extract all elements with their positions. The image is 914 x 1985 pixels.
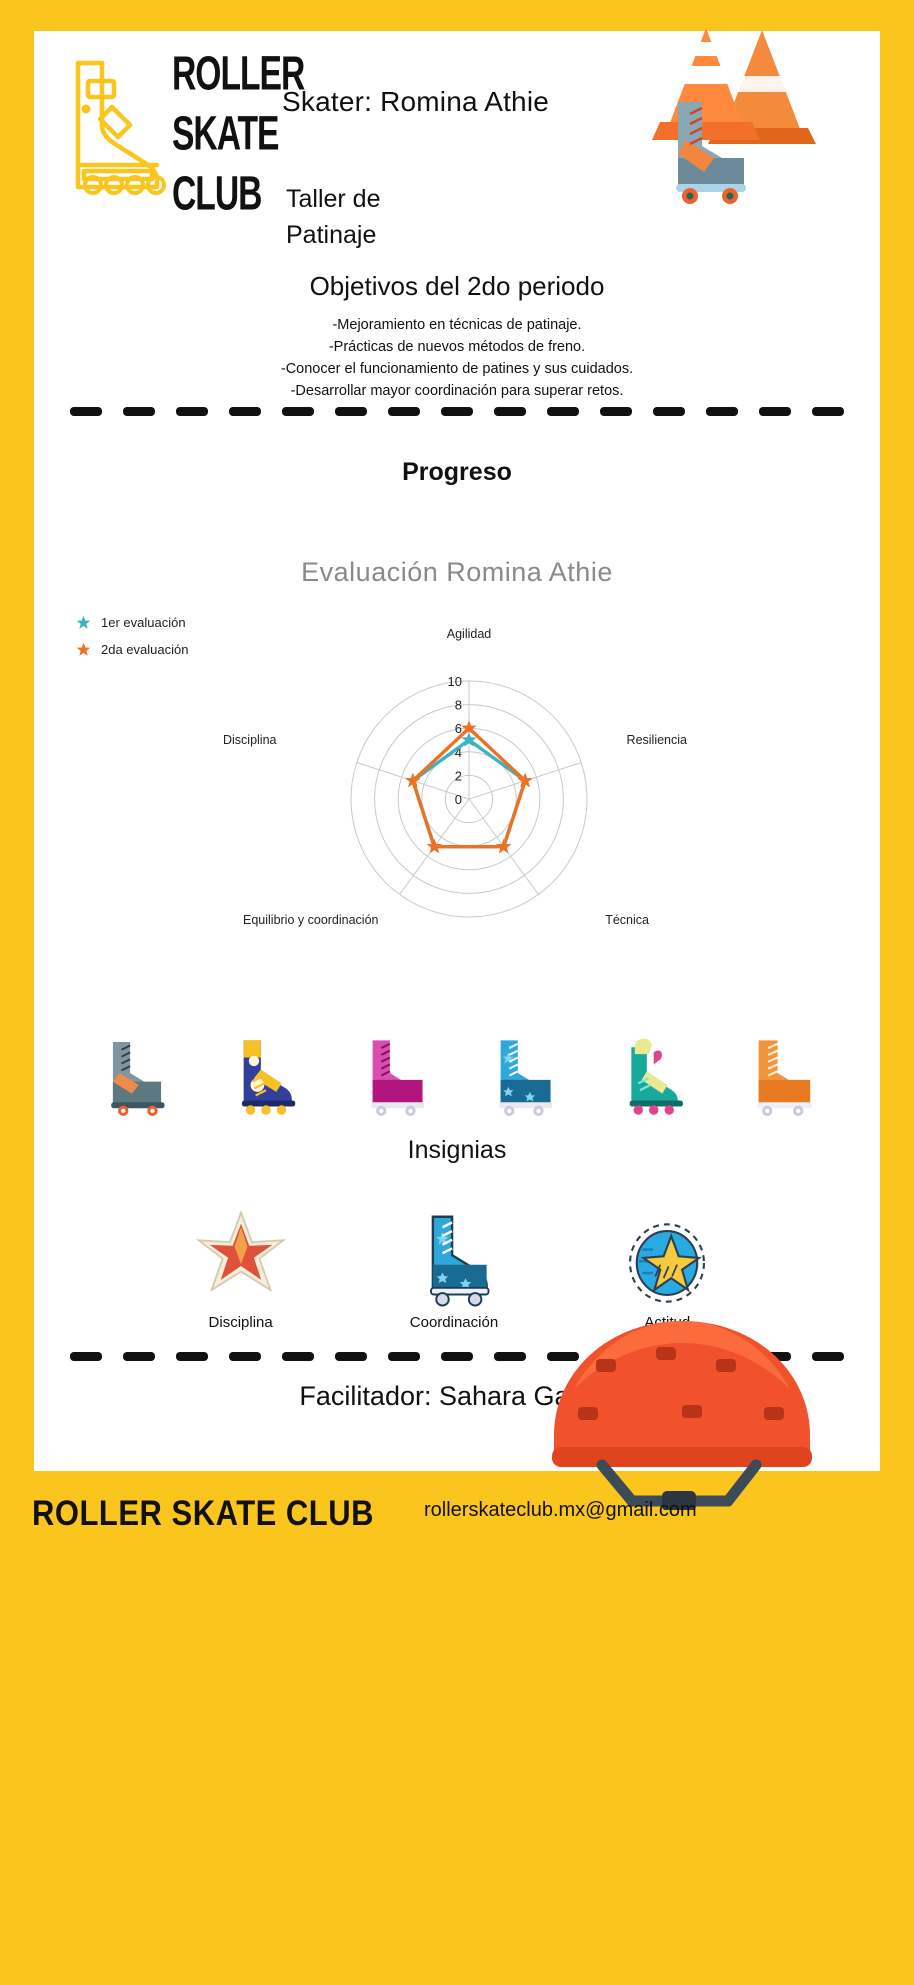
objective-item: -Desarrollar mayor coordinación para sup… [34,380,880,402]
roller-skate-gray-icon [94,1030,180,1116]
footer-brand: ROLLER SKATE CLUB [32,1493,374,1534]
badge-coordinacion: Coordinación [359,1212,549,1331]
badges-row: Disciplina [134,1196,774,1331]
badge-label: Disciplina [146,1314,336,1331]
axis-label-disciplina: Disciplina [223,733,277,747]
roller-skate-pink-icon [352,1030,438,1116]
star-icon [76,642,91,657]
roller-skate-icon [648,96,768,206]
workshop-line-2: Patinaje [286,217,586,253]
brand-line-1: ROLLER [172,53,294,93]
objectives-title: Objetivos del 2do periodo [34,271,880,302]
star-badge-red-icon [195,1209,287,1301]
evaluation-chart: Evaluación Romina Athie 1er evaluación 2… [34,531,880,931]
axis-label-equilibrio: Equilibrio y coordinación [243,913,379,927]
brand-line-2: SKATE [172,113,294,153]
objective-item: -Conocer el funcionamiento de patines y … [34,358,880,380]
badge-disciplina: Disciplina [146,1206,336,1331]
content-card: ROLLER SKATE CLUB Skater: Romina Athie T… [34,31,880,1471]
chart-title: Evaluación Romina Athie [34,557,880,588]
axis-label-resiliencia: Resiliencia [627,733,687,747]
badge-art [146,1206,336,1301]
objective-item: -Prácticas de nuevos métodos de freno. [34,336,880,358]
shooting-star-badge-icon [625,1221,709,1305]
svg-text:8: 8 [455,698,462,713]
badge-art [359,1212,549,1307]
skate-illustration-strip [94,1026,824,1116]
footer-email: rollerskateclub.mx@gmail.com [424,1499,697,1522]
workshop-line-1: Taller de [286,181,586,217]
svg-text:0: 0 [455,792,462,807]
badge-actitud: Actitud [572,1210,762,1331]
objectives-list: -Mejoramiento en técnicas de patinaje. -… [34,314,880,402]
progress-section-title: Progreso [34,458,880,487]
legend-item-1: 1er evaluación [76,609,188,636]
legend-label-1: 1er evaluación [101,615,186,630]
brand-line-3: CLUB [172,173,294,213]
brand-wordmark: ROLLER SKATE CLUB [172,53,292,201]
workshop-title: Taller de Patinaje [286,181,586,254]
roller-skate-outline-icon [64,55,182,195]
radar-plot: Agilidad Resiliencia Técnica Equilibrio … [279,627,659,927]
roller-skate-orange-icon [738,1030,824,1116]
axis-label-agilidad: Agilidad [447,627,491,641]
badge-label: Coordinación [359,1314,549,1331]
roller-skate-badge-blue-icon [406,1211,502,1307]
radar-svg: 0246810 [279,627,659,927]
inline-skate-blue-yellow-icon [223,1030,309,1116]
legend-item-2: 2da evaluación [76,636,188,663]
axis-label-tecnica: Técnica [605,913,649,927]
svg-text:2: 2 [455,768,462,783]
badge-art [572,1210,762,1305]
divider-top [70,406,844,416]
chart-legend: 1er evaluación 2da evaluación [76,609,188,663]
svg-text:10: 10 [448,674,462,689]
roller-skate-blue-stars-icon [480,1030,566,1116]
poster-root: ROLLER SKATE CLUB Skater: Romina Athie T… [0,0,914,1985]
legend-label-2: 2da evaluación [101,642,188,657]
objective-item: -Mejoramiento en técnicas de patinaje. [34,314,880,336]
inline-skate-teal-icon [609,1030,695,1116]
star-icon [76,615,91,630]
footer: ROLLER SKATE CLUB rollerskateclub.mx@gma… [0,1471,914,1985]
badges-section-title: Insignias [34,1136,880,1165]
